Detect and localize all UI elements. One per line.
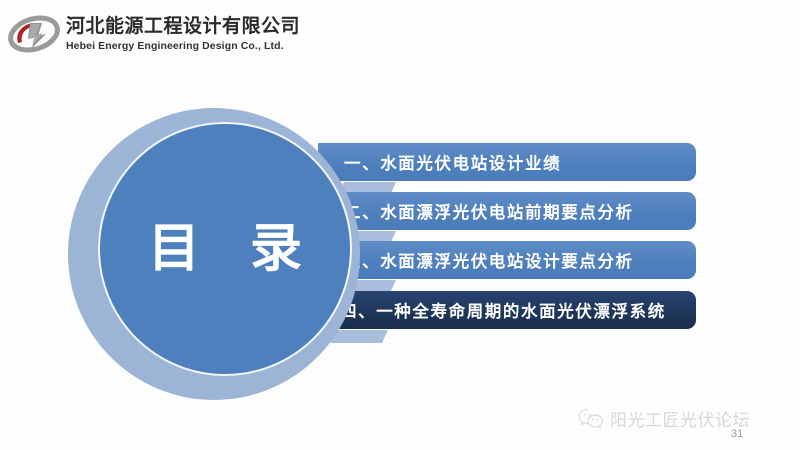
toc-item-2-label: 二、水面漂浮光伏电站前期要点分析 — [344, 199, 634, 223]
watermark: 阳光工匠光伏论坛 — [578, 406, 750, 431]
watermark-text: 阳光工匠光伏论坛 — [610, 406, 750, 431]
toc-item-3[interactable]: 三、水面漂浮光伏电站设计要点分析 — [318, 241, 696, 279]
company-name-block: 河北能源工程设计有限公司 Hebei Energy Engineering De… — [66, 17, 300, 52]
company-name-cn: 河北能源工程设计有限公司 — [66, 17, 300, 36]
toc-item-4[interactable]: 四、一种全寿命周期的水面光伏漂浮系统 — [318, 291, 696, 329]
company-name-en: Hebei Energy Engineering Design Co., Ltd… — [66, 41, 300, 52]
presentation-slide: 河北能源工程设计有限公司 Hebei Energy Engineering De… — [0, 0, 800, 450]
wechat-icon — [578, 408, 604, 430]
company-swoosh-logo-icon — [8, 12, 60, 56]
page-title: 目 录 — [132, 223, 318, 275]
toc-item-2[interactable]: 二、水面漂浮光伏电站前期要点分析 — [318, 192, 696, 230]
toc-circle-inner: 目 录 — [98, 122, 352, 376]
toc-item-3-label: 三、水面漂浮光伏电站设计要点分析 — [344, 248, 634, 272]
toc-item-1-label: 一、水面光伏电站设计业绩 — [344, 150, 561, 174]
connector-tab-4 — [330, 330, 388, 343]
toc-item-4-label: 四、一种全寿命周期的水面光伏漂浮系统 — [340, 298, 666, 322]
toc-item-1[interactable]: 一、水面光伏电站设计业绩 — [318, 143, 696, 181]
page-number: 31 — [731, 428, 743, 440]
slide-header: 河北能源工程设计有限公司 Hebei Energy Engineering De… — [0, 0, 800, 68]
